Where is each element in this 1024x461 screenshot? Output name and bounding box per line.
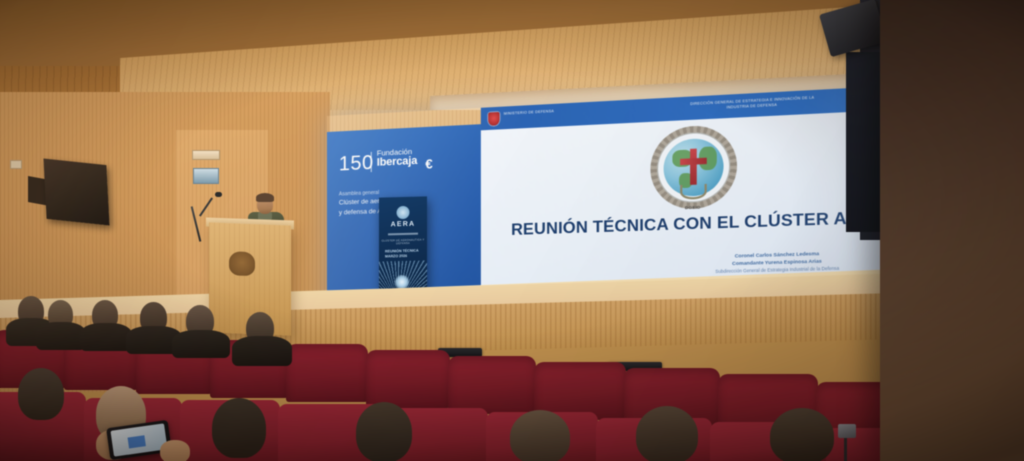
wall-notice-icon: [193, 168, 219, 184]
lectern-emblem-icon: [229, 251, 255, 276]
banner-headline: REUNIÓN TÉCNICA MARZO 2026: [385, 248, 421, 260]
banner-headline-line2: MARZO 2026: [385, 254, 407, 259]
wall-mounted-loudspeaker: [43, 158, 109, 225]
ministry-label: MINISTERIO DE DEFENSA: [504, 109, 554, 117]
emblem-cross: [690, 149, 697, 185]
banner-tagline: CLÚSTER DE AERONÁUTICA Y DEFENSA: [379, 238, 427, 245]
emblem-label: DGEID: [685, 204, 701, 210]
camera-on-tripod: [838, 424, 856, 438]
directorate-label: DIRECCIÓN GENERAL DE ESTRATEGIA E INNOVA…: [668, 94, 838, 114]
power-outlet-icon: [10, 160, 22, 169]
phone-screen-slide-preview: [128, 435, 146, 448]
aera-wordmark: AERA: [379, 220, 427, 228]
ibercaja-brand-line2: Ibercaja: [377, 156, 417, 170]
attendee-head: [636, 406, 698, 461]
seat: [366, 350, 450, 408]
attendee-head: [356, 402, 412, 461]
attendee-head: [212, 398, 266, 458]
attendee-shoulders: [80, 323, 132, 351]
auditorium-photo: 150 Fundación Ibercaja € Asamblea genera…: [0, 0, 1024, 461]
phone-screen: [110, 423, 167, 456]
central-emblem-icon: DGEID: [650, 124, 737, 210]
attendee-head: [18, 368, 64, 420]
ibercaja-wordmark: Fundación Ibercaja: [377, 148, 417, 169]
ibercaja-150-number: 150: [339, 152, 374, 177]
banner-divider: [388, 233, 418, 236]
attendee-head: [770, 408, 834, 461]
attendee-shoulders: [172, 330, 230, 358]
attendee-shoulders: [36, 322, 86, 350]
attendee-head: [510, 410, 570, 461]
wall-sign-icon: [192, 150, 220, 160]
banner-headline-line1: REUNIÓN TÉCNICA: [385, 249, 419, 254]
spain-coat-of-arms-icon: [488, 112, 499, 126]
officer-hair: [256, 193, 274, 202]
directorate-line-2: INDUSTRIA DE DEFENSA: [727, 103, 778, 110]
ibercaja-divider: [371, 152, 372, 172]
attendee-shoulders: [232, 336, 292, 366]
seat: [286, 344, 368, 402]
aera-logo-icon: [397, 206, 410, 219]
right-column: [880, 0, 1024, 461]
euro-symbol-icon: €: [425, 156, 432, 172]
seat: [448, 356, 536, 414]
tripod-legs: [844, 438, 847, 461]
microphone-capsule-icon: [215, 192, 222, 197]
attendee-hand: [160, 440, 190, 461]
